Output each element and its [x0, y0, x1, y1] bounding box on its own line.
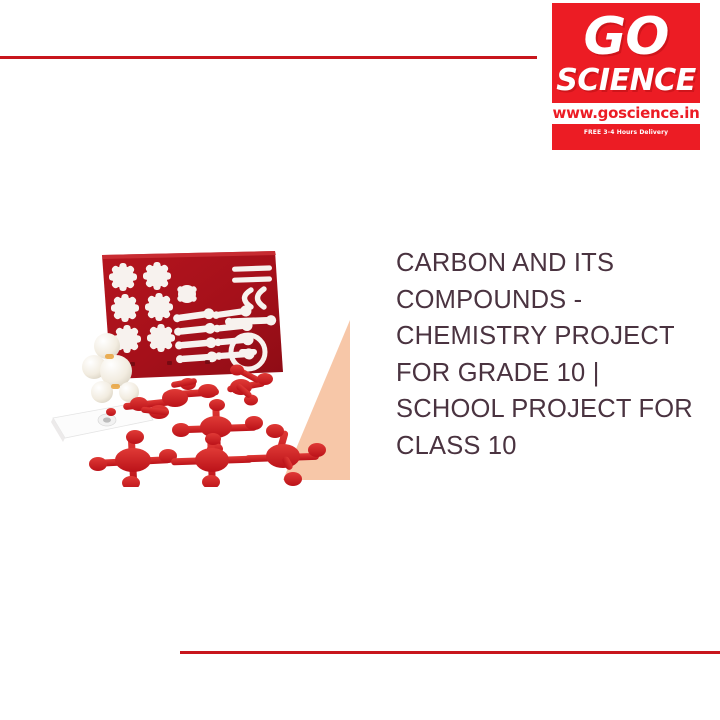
molecule-lower-left	[89, 430, 177, 487]
title-line-3: CHEMISTRY PROJECT	[396, 318, 696, 355]
top-divider	[0, 56, 537, 59]
poster-canvas: GO SCIENCE www.goscience.in FREE 3-4 Hou…	[0, 0, 720, 720]
stray-bond-piece	[106, 408, 116, 416]
molecule-middle	[172, 399, 263, 455]
molecule-lower-centre	[171, 433, 253, 487]
logo-url-text: www.goscience.in	[553, 105, 700, 121]
title-line-5: SCHOOL PROJECT FOR	[396, 391, 696, 428]
logo-word-science: SCIENCE	[556, 65, 695, 97]
logo-tagline: FREE 3-4 Hours Delivery	[584, 129, 668, 136]
title-line-1: CARBON AND ITS	[396, 245, 696, 282]
molecular-model-board	[102, 251, 283, 379]
product-photo	[45, 232, 365, 487]
logo-word-go: GO	[584, 9, 669, 65]
title-line-6: CLASS 10	[396, 428, 696, 465]
title-line-4: FOR GRADE 10 |	[396, 355, 696, 392]
product-title: CARBON AND ITS COMPOUNDS - CHEMISTRY PRO…	[396, 245, 696, 464]
title-line-2: COMPOUNDS -	[396, 282, 696, 319]
logo-url-pill[interactable]: www.goscience.in	[552, 103, 700, 124]
go-science-logo[interactable]: GO SCIENCE www.goscience.in FREE 3-4 Hou…	[552, 3, 700, 150]
bottom-divider	[180, 651, 720, 654]
